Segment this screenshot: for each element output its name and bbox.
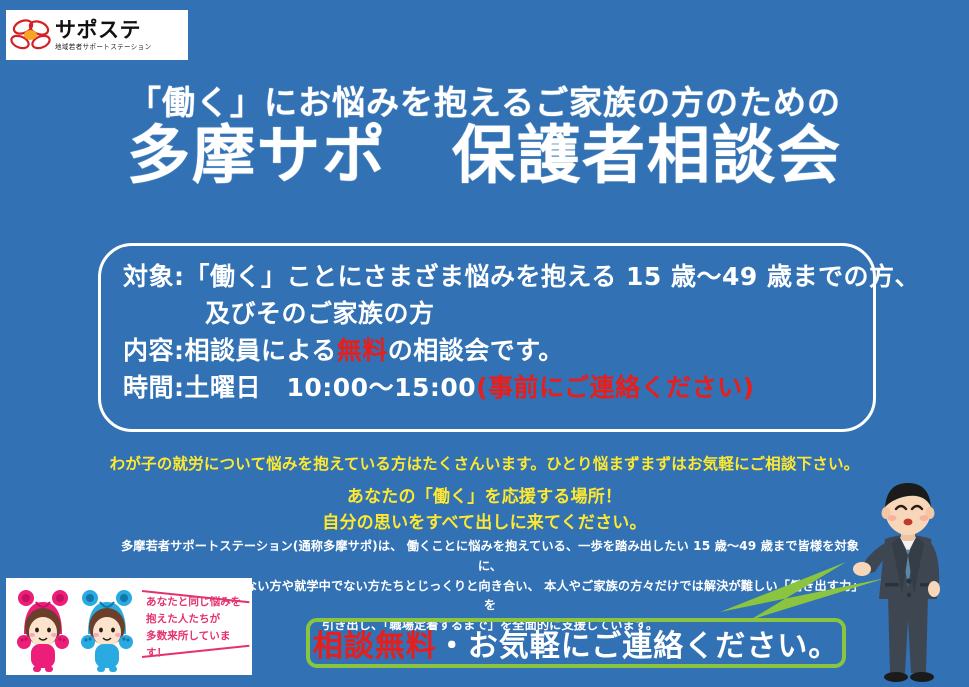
businessman-illustration (852, 477, 964, 687)
info-time-note: (事前にご連絡ください) (476, 373, 754, 402)
poster-title: 多摩サポ 保護者相談会 (0, 123, 969, 189)
mascot-note-line-3: 多数来所しています！ (146, 628, 250, 662)
description-line-1: 多摩若者サポートステーション(通称多摩サポ)は、 働くことに悩みを抱えている、一… (120, 537, 860, 577)
poster-headline: 「働く」にお悩みを抱えるご家族の方のための (0, 76, 969, 124)
mascot-note: あなたと同じ悩みを 抱えた人たちが 多数来所しています！ (146, 594, 250, 662)
saposute-logo-mark-icon (10, 16, 52, 54)
mascot-characters-illustration (12, 580, 142, 673)
mascot-note-line-1: あなたと同じ悩みを (146, 594, 250, 611)
info-box: 対象:「働く」ことにさまざま悩みを抱える 15 歳～49 歳までの方、 及びその… (98, 243, 876, 432)
info-content-suffix: の相談会です。 (388, 336, 564, 365)
info-target-line2: 及びそのご家族の方 (123, 295, 855, 332)
mid-strong-line1: あなたの「働く」を応援する場所！ (0, 485, 969, 511)
cta-banner[interactable]: 相談無料・お気軽にご連絡ください。 (306, 618, 846, 668)
mid-strong-text: あなたの「働く」を応援する場所！ 自分の思いをすべて出しに来てください。 (0, 485, 969, 536)
cta-free-label: 相談無料 (313, 621, 437, 665)
saposute-logo: サポステ 地域若者サポートステーション (6, 10, 188, 60)
poster-root: サポステ 地域若者サポートステーション 「働く」にお悩みを抱えるご家族の方のため… (0, 0, 969, 687)
info-content-line: 内容:相談員による無料の相談会です。 (123, 332, 855, 369)
cta-contact-label: ・お気軽にご連絡ください。 (437, 621, 839, 665)
info-time-value: 時間:土曜日 10:00～15:00 (123, 373, 476, 402)
logo-name: サポステ (55, 20, 151, 41)
mid-strong-line2: 自分の思いをすべて出しに来てください。 (0, 511, 969, 537)
info-target-line1: 対象:「働く」ことにさまざま悩みを抱える 15 歳～49 歳までの方、 (123, 258, 855, 295)
info-free-badge: 無料 (337, 336, 388, 365)
info-content-prefix: 内容:相談員による (123, 336, 337, 365)
info-time-line: 時間:土曜日 10:00～15:00(事前にご連絡ください) (123, 369, 855, 406)
logo-subtitle: 地域若者サポートステーション (55, 44, 151, 51)
mascot-card: あなたと同じ悩みを 抱えた人たちが 多数来所しています！ (6, 578, 252, 675)
mid-lead-text: わが子の就労について悩みを抱えている方はたくさんいます。ひとり悩まずまずはお気軽… (0, 452, 969, 474)
mascot-note-line-2: 抱えた人たちが (146, 611, 250, 628)
